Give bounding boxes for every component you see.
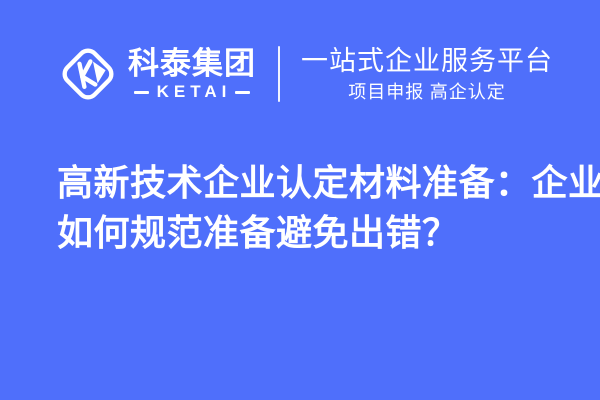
page-title-line-1: 高新技术企业认定材料准备：企业	[57, 158, 562, 208]
brand-dash-left-icon	[134, 91, 149, 94]
tagline-sub: 项目申报 高企认定	[301, 82, 553, 103]
tagline-block: 一站式企业服务平台 项目申报 高企认定	[301, 38, 553, 110]
banner-header: 科泰集团 KETAI 一站式企业服务平台 项目申报 高企认定	[57, 38, 553, 110]
promo-banner: 科泰集团 KETAI 一站式企业服务平台 项目申报 高企认定 高新技术企业认定材…	[0, 0, 600, 400]
page-title: 高新技术企业认定材料准备：企业 如何规范准备避免出错？	[57, 158, 562, 258]
brand-lockup: 科泰集团 KETAI	[57, 38, 256, 110]
header-divider	[278, 46, 280, 102]
brand-name-en-text: KETAI	[149, 83, 236, 101]
brand-name-cn: 科泰集团	[128, 47, 256, 81]
tagline-main: 一站式企业服务平台	[301, 45, 553, 77]
ketai-diamond-logo-icon	[57, 43, 119, 105]
page-title-line-2: 如何规范准备避免出错？	[57, 208, 562, 258]
brand-name-en: KETAI	[128, 83, 256, 101]
brand-wordmark: 科泰集团 KETAI	[128, 47, 256, 101]
brand-dash-right-icon	[235, 91, 250, 94]
